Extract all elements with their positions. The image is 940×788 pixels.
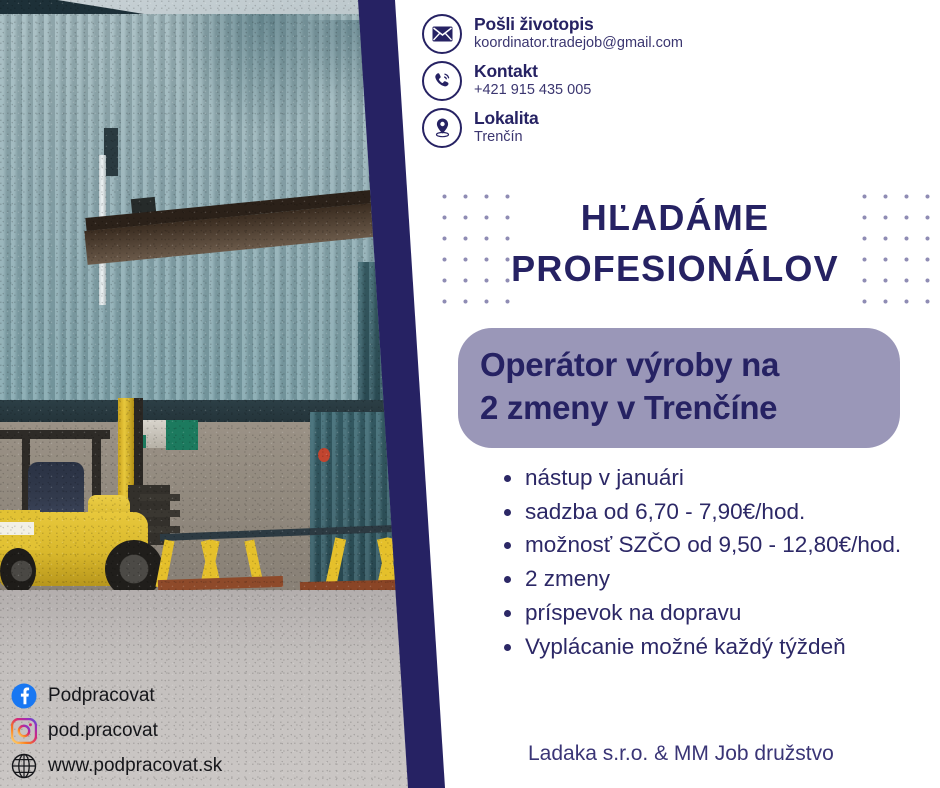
benefits-list: nástup v januári sadzba od 6,70 - 7,90€/… bbox=[500, 462, 920, 664]
phone-icon bbox=[422, 61, 462, 101]
list-item: nástup v januári bbox=[500, 462, 920, 494]
social-label-facebook: Podpracovat bbox=[48, 685, 155, 707]
contact-title-location: Lokalita bbox=[474, 109, 539, 129]
instagram-icon bbox=[10, 717, 38, 745]
headline: HĽADÁME PROFESIONÁLOV bbox=[460, 192, 890, 294]
facebook-icon bbox=[10, 682, 38, 710]
contact-value-email: koordinator.tradejob@gmail.com bbox=[474, 35, 683, 52]
list-item: príspevok na dopravu bbox=[500, 597, 920, 629]
contact-value-location: Trenčín bbox=[474, 129, 539, 146]
envelope-icon bbox=[422, 14, 462, 54]
social-row-instagram[interactable]: pod.pracovat bbox=[10, 713, 310, 748]
location-pin-icon bbox=[422, 108, 462, 148]
globe-icon bbox=[10, 752, 38, 780]
headline-line-2: PROFESIONÁLOV bbox=[460, 243, 890, 294]
list-item: 2 zmeny bbox=[500, 563, 920, 595]
social-links: Podpracovat pod.pracovat bbox=[10, 678, 310, 783]
job-title-line-1: Operátor výroby na bbox=[480, 344, 878, 387]
job-title-banner: Operátor výroby na 2 zmeny v Trenčíne bbox=[458, 328, 900, 448]
contact-title-email: Pošli životopis bbox=[474, 15, 683, 35]
company-name: Ladaka s.r.o. & MM Job družstvo bbox=[528, 742, 834, 766]
content-panel: Pošli životopis koordinator.tradejob@gma… bbox=[400, 0, 940, 788]
list-item: Vyplácanie možné každý týždeň bbox=[500, 631, 920, 663]
contact-row-phone[interactable]: Kontakt +421 915 435 005 bbox=[422, 57, 922, 104]
social-row-website[interactable]: www.podpracovat.sk bbox=[10, 748, 310, 783]
social-label-instagram: pod.pracovat bbox=[48, 720, 158, 742]
contact-value-phone: +421 915 435 005 bbox=[474, 82, 591, 99]
contact-list: Pošli životopis koordinator.tradejob@gma… bbox=[422, 10, 922, 151]
contact-title-phone: Kontakt bbox=[474, 62, 591, 82]
headline-line-1: HĽADÁME bbox=[460, 192, 890, 243]
list-item: sadzba od 6,70 - 7,90€/hod. bbox=[500, 496, 920, 528]
social-label-website: www.podpracovat.sk bbox=[48, 755, 222, 777]
contact-row-email[interactable]: Pošli životopis koordinator.tradejob@gma… bbox=[422, 10, 922, 57]
social-row-facebook[interactable]: Podpracovat bbox=[10, 678, 310, 713]
list-item: možnosť SZČO od 9,50 - 12,80€/hod. bbox=[500, 529, 920, 561]
contact-row-location[interactable]: Lokalita Trenčín bbox=[422, 104, 922, 151]
job-title-line-2: 2 zmeny v Trenčíne bbox=[480, 387, 878, 430]
